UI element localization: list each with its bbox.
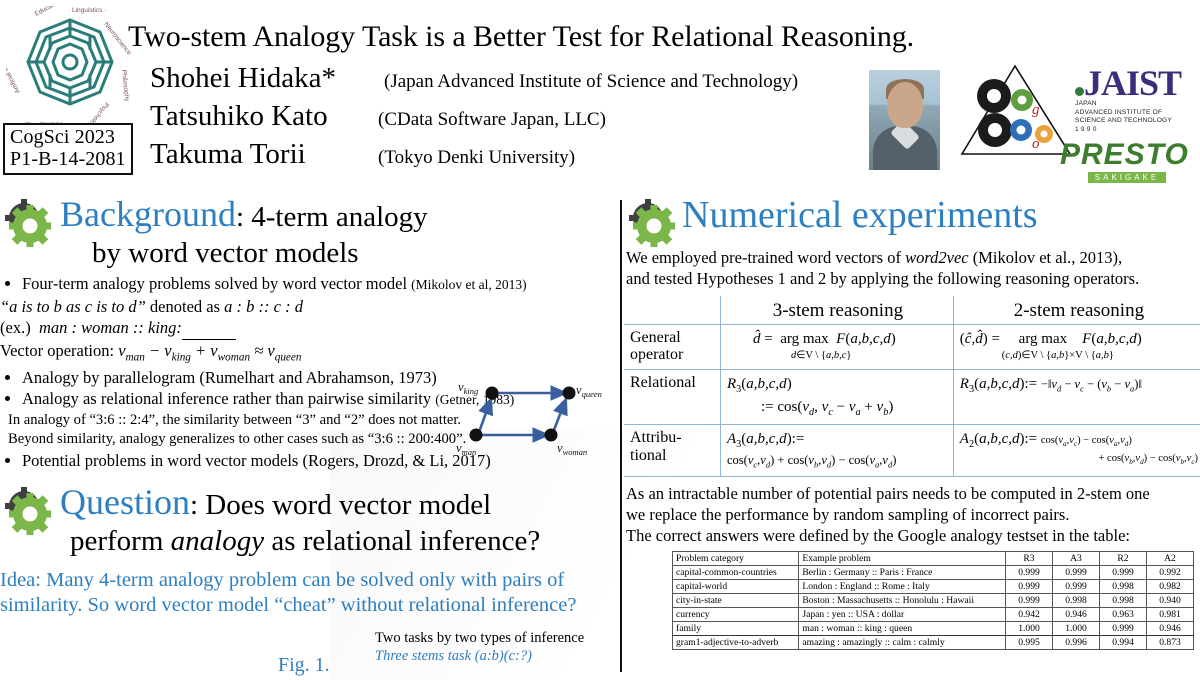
jaist-dot-icon	[1075, 87, 1084, 96]
presto-logo: PRESTO SAKIGAKE	[1060, 138, 1195, 184]
cell-r2: 0.994	[1100, 635, 1147, 649]
svg-text:vwoman: vwoman	[557, 441, 587, 456]
cell-a2: 0.940	[1147, 593, 1194, 607]
section-keyword: Numerical experiments	[682, 194, 1038, 236]
author-row: Takuma Torii (Tokyo Denki University)	[150, 138, 798, 171]
cell-category: currency	[673, 607, 799, 621]
jaist-logo: JAIST JAPAN ADVANCED INSTITUTE OF SCIENC…	[1075, 66, 1195, 136]
section-heading-question: Question: Does word vector model	[60, 484, 612, 520]
background-bullets: Four-term analogy problems solved by wor…	[0, 274, 612, 472]
cell-a2: 0.946	[1147, 621, 1194, 635]
col-header-a3: A3	[1053, 551, 1100, 565]
note-line1: As an intractable number of potential pa…	[626, 484, 1200, 505]
svg-text:· Linguistics ·: · Linguistics ·	[68, 7, 106, 14]
cell-a3: 0.996	[1053, 635, 1100, 649]
intro-line2: and tested Hypotheses 1 and 2 by applyin…	[626, 269, 1200, 290]
bullet-text: Potential problems in word vector models…	[22, 451, 491, 470]
section-question: Question: Does word vector model perform…	[0, 484, 612, 618]
cell-r3: 0.999	[1006, 593, 1053, 607]
col-header-example-problem: Example problem	[799, 551, 1006, 565]
figure-description-line1: Two tasks by two types of inference	[375, 629, 615, 647]
cell-attributional-2stem: A2(a,b,c,d):= cos(va,vc) − cos(va,vd) + …	[953, 425, 1200, 477]
section-background: Background: 4-term analogy by word vecto…	[0, 196, 612, 472]
cell-a3: 0.999	[1053, 565, 1100, 579]
author-affiliation: (CData Software Japan, LLC)	[368, 109, 606, 131]
cell-attributional-3stem: A3(a,b,c,d):= cos(vc,vd) + cos(vb,vd) − …	[721, 425, 954, 477]
cell-a2: 0.981	[1147, 607, 1194, 621]
cell-r2: 0.999	[1100, 621, 1147, 635]
author-list: Shohei Hidaka* (Japan Advanced Institute…	[150, 62, 798, 176]
gear-icon	[2, 198, 56, 248]
section-heading-line2: by word vector models	[0, 237, 612, 270]
figure-caption: Fig. 1.	[278, 654, 330, 677]
gear-icon	[626, 198, 680, 248]
table-row: capital-common-countries Berlin : German…	[673, 565, 1194, 579]
analogy-example-line: (ex.) man : woman :: king:	[0, 317, 612, 339]
cell-example: Boston : Massachusetts :: Honolulu : Haw…	[799, 593, 1006, 607]
note-line3: The correct answers were defined by the …	[626, 526, 1200, 547]
analogy-notation-line: “a is to b as c is to d” denoted as a : …	[0, 296, 612, 317]
svg-text:vman: vman	[456, 441, 476, 456]
poster-header: Education · Linguistics · Neuroscience P…	[0, 0, 1200, 196]
conference-badge: CogSci 2023 P1-B-14-2081	[3, 123, 133, 175]
table-row: capital-world London : England :: Rome :…	[673, 579, 1194, 593]
author-row: Tatsuhiko Kato (CData Software Japan, LL…	[150, 100, 798, 133]
jaist-sub-line: 1 9 9 0	[1075, 126, 1195, 135]
cell-example: London : England :: Rome : Italy	[799, 579, 1006, 593]
table-row: Attribu-tional A3(a,b,c,d):= cos(vc,vd) …	[624, 425, 1200, 477]
cell-r3: 0.942	[1006, 607, 1053, 621]
table-row: Relational R3(a,b,c,d) := cos(vd, vc − v…	[624, 369, 1200, 425]
author-portrait-photo	[869, 70, 940, 170]
author-affiliation: (Japan Advanced Institute of Science and…	[374, 71, 798, 93]
jaist-sub-line: ADVANCED INSTITUTE OF	[1075, 109, 1195, 118]
cell-category: city-in-state	[673, 593, 799, 607]
section-numerical-experiments: Numerical experiments	[620, 196, 1200, 242]
col-header-blank	[624, 296, 721, 325]
cell-category: capital-world	[673, 579, 799, 593]
row-label-general-operator: Generaloperator	[624, 324, 721, 369]
question-line2-b: as relational inference?	[264, 525, 540, 557]
col-header-3stem: 3-stem reasoning	[721, 296, 954, 325]
row-label-attributional: Attribu-tional	[624, 425, 721, 477]
intro-paragraph: We employed pre-trained word vectors of …	[626, 248, 1200, 290]
table-header-row: Problem category Example problem R3 A3 R…	[673, 551, 1194, 565]
cell-general-3stem: d̂ = arg max F(a,b,c,d) d∈V \ {a,b,c}	[721, 324, 954, 369]
poster-body: Background: 4-term analogy by word vecto…	[0, 196, 1200, 675]
idea-text: Idea: Many 4-term analogy problem can be…	[0, 568, 612, 618]
list-item: Four-term analogy problems solved by wor…	[22, 274, 612, 295]
section-heading-rest: : Does word vector model	[190, 489, 491, 521]
presto-wordmark: PRESTO	[1060, 138, 1195, 172]
question-line2: perform analogy as relational inference?	[0, 525, 612, 558]
operator-definition-table: 3-stem reasoning 2-stem reasoning Genera…	[624, 296, 1200, 477]
badge-poster-id: P1-B-14-2081	[10, 148, 126, 170]
intro-line1: We employed pre-trained word vectors of …	[626, 248, 1200, 269]
cell-a2: 0.873	[1147, 635, 1194, 649]
col-header-r3: R3	[1006, 551, 1053, 565]
svg-text:o: o	[1032, 136, 1040, 152]
svg-text:vqueen: vqueen	[576, 383, 602, 399]
cell-a2: 0.992	[1147, 565, 1194, 579]
cell-r2: 0.998	[1100, 593, 1147, 607]
bullet-text: Analogy by parallelogram (Rumelhart and …	[22, 368, 437, 387]
cell-relational-3stem: R3(a,b,c,d) := cos(vd, vc − va + vb)	[721, 369, 954, 425]
col-header-r2: R2	[1100, 551, 1147, 565]
author-name: Takuma Torii	[150, 138, 368, 171]
figure-description-line2: Three stems task (a:b)(c:?)	[375, 647, 615, 665]
question-line2-emphasis: analogy	[171, 525, 264, 557]
author-name: Shohei Hidaka*	[150, 62, 374, 95]
cell-example: man : woman :: king : queen	[799, 621, 1006, 635]
cell-a3: 0.946	[1053, 607, 1100, 621]
table-row: currency Japan : yen :: USA : dollar 0.9…	[673, 607, 1194, 621]
presto-subtitle: SAKIGAKE	[1088, 172, 1166, 183]
cell-a3: 0.998	[1053, 593, 1100, 607]
author-row: Shohei Hidaka* (Japan Advanced Institute…	[150, 62, 798, 95]
section-keyword: Question	[60, 482, 190, 522]
author-name: Tatsuhiko Kato	[150, 100, 368, 133]
col-header-problem-category: Problem category	[673, 551, 799, 565]
row-label-relational: Relational	[624, 369, 721, 425]
jaist-wordmark: JAIST	[1084, 63, 1181, 103]
svg-text:Philosophy: Philosophy	[120, 69, 130, 102]
svg-text:vking: vking	[458, 380, 478, 396]
svg-text:Artificial Intelligence: Artificial Intelligence	[6, 40, 22, 94]
question-line2-a: perform	[70, 525, 171, 557]
cell-r2: 0.998	[1100, 579, 1147, 593]
note-line2: we replace the performance by random sam…	[626, 505, 1200, 526]
results-table: Problem category Example problem R3 A3 R…	[672, 551, 1194, 650]
cell-r3: 0.995	[1006, 635, 1053, 649]
gear-icon	[2, 486, 56, 536]
cell-a2: 0.982	[1147, 579, 1194, 593]
author-affiliation: (Tokyo Denki University)	[368, 147, 575, 169]
cell-r3: 1.000	[1006, 621, 1053, 635]
col-header-2stem: 2-stem reasoning	[953, 296, 1200, 325]
cell-category: family	[673, 621, 799, 635]
cell-category: gram1-adjective-to-adverb	[673, 635, 799, 649]
bullet-citation: (Mikolov et al, 2013)	[411, 277, 526, 292]
section-heading-rest: : 4-term analogy	[236, 201, 428, 233]
jaist-sub-line: SCIENCE AND TECHNOLOGY	[1075, 117, 1195, 126]
figure-description: Two tasks by two types of inference Thre…	[375, 629, 615, 665]
cell-r3: 0.999	[1006, 579, 1053, 593]
cogcomo-logo: g o	[958, 62, 1073, 158]
svg-text:g: g	[1032, 102, 1040, 118]
cell-example: amazing : amazingly :: calm : calmly	[799, 635, 1006, 649]
bullet-text: Four-term analogy problems solved by wor…	[22, 274, 407, 293]
cell-category: capital-common-countries	[673, 565, 799, 579]
table-row: gram1-adjective-to-adverb amazing : amaz…	[673, 635, 1194, 649]
cell-example: Japan : yen :: USA : dollar	[799, 607, 1006, 621]
badge-conference: CogSci 2023	[10, 126, 126, 148]
table-row: Generaloperator d̂ = arg max F(a,b,c,d) …	[624, 324, 1200, 369]
poster-root: Education · Linguistics · Neuroscience P…	[0, 0, 1200, 675]
section-keyword: Background	[60, 194, 236, 234]
vector-operation-line: Vector operation: vman − vking + vwoman …	[0, 340, 612, 365]
page-title: Two-stem Analogy Task is a Better Test f…	[128, 20, 914, 54]
cell-general-2stem: (ĉ,d̂) = arg max F(a,b,c,d) (c,d)∈V \ {a…	[953, 324, 1200, 369]
col-header-a2: A2	[1147, 551, 1194, 565]
sampling-note: As an intractable number of potential pa…	[626, 484, 1200, 547]
bullet-text: Analogy as relational inference rather t…	[22, 389, 431, 408]
cell-r3: 0.999	[1006, 565, 1053, 579]
cell-r2: 0.999	[1100, 565, 1147, 579]
section-heading-numerical: Numerical experiments	[682, 196, 1200, 234]
table-header-row: 3-stem reasoning 2-stem reasoning	[624, 296, 1200, 325]
left-column: Background: 4-term analogy by word vecto…	[0, 196, 612, 675]
svg-text:Education: Education	[34, 6, 63, 18]
cell-relational-2stem: R3(a,b,c,d):= −‖vd − vc − (vb − va)‖	[953, 369, 1200, 425]
parallelogram-figure: vking vqueen vman vwoman	[456, 378, 608, 456]
cell-a3: 0.999	[1053, 579, 1100, 593]
cell-example: Berlin : Germany :: Paris : France	[799, 565, 1006, 579]
cell-r2: 0.963	[1100, 607, 1147, 621]
table-row: family man : woman :: king : queen 1.000…	[673, 621, 1194, 635]
cell-a3: 1.000	[1053, 621, 1100, 635]
right-column: Numerical experiments We employed pre-tr…	[620, 196, 1200, 675]
section-heading-background: Background: 4-term analogy	[60, 196, 612, 232]
cogsci-labyrinth-logo: Education · Linguistics · Neuroscience P…	[6, 6, 134, 130]
table-row: city-in-state Boston : Massachusetts :: …	[673, 593, 1194, 607]
